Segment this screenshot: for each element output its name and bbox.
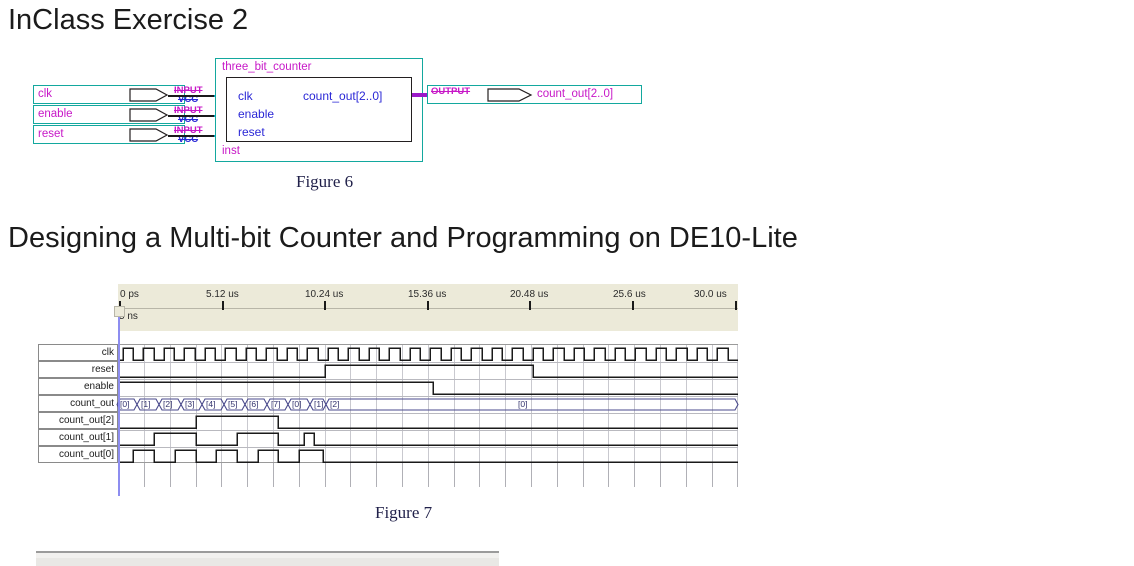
bus-value: [1] [141, 399, 150, 409]
timeline-subheader [118, 309, 738, 331]
time-tick-mark [324, 301, 326, 310]
time-tick-label: 30.0 us [694, 289, 727, 300]
waveform-grid: [0] [1] [2] [3] [4] [5] [6] [7] [0] [1] … [118, 344, 738, 463]
time-tick-label: 10.24 us [305, 289, 343, 300]
time-tick-mark [427, 301, 429, 310]
input-pin-enable-arrow [129, 108, 169, 122]
input-pin-clk-arrow [129, 88, 169, 102]
time-tick-label: 25.6 us [613, 289, 646, 300]
wire-stub-clk [168, 95, 214, 97]
schematic-figure-6: clk INPUT VCC enable INPUT VCC reset INP… [0, 52, 700, 172]
bus-value: [0] [120, 399, 129, 409]
page-title-designing: Designing a Multi-bit Counter and Progra… [8, 222, 798, 255]
wire-stub-enable [168, 115, 214, 117]
block-port-enable: enable [238, 107, 274, 121]
bus-value-stable: [0] [518, 399, 527, 409]
page-title-inclass: InClass Exercise 2 [8, 4, 248, 37]
time-tick-mark [632, 301, 634, 310]
bus-value: [6] [249, 399, 258, 409]
signal-name-enable[interactable]: enable [38, 378, 118, 395]
bus-value: [7] [271, 399, 280, 409]
block-port-reset: reset [238, 125, 265, 139]
waveform-footer-ticks [118, 463, 738, 496]
bus-value: [2] [163, 399, 172, 409]
signal-name-count-out-2[interactable]: count_out[2] [38, 412, 118, 429]
figure-7-caption: Figure 7 [375, 503, 432, 523]
wire-stub-reset [168, 135, 214, 137]
block-port-clk: clk [238, 89, 253, 103]
input-pin-reset-arrow [129, 128, 169, 142]
time-tick-mark [735, 301, 737, 310]
signal-name-clk[interactable]: clk [38, 344, 118, 361]
time-cursor-handle[interactable] [114, 306, 125, 317]
block-name-label: three_bit_counter [222, 61, 312, 73]
time-tick-mark [222, 301, 224, 310]
block-instance-label: inst [222, 145, 240, 157]
figure-6-caption: Figure 6 [296, 172, 353, 192]
bottom-window-toolbar [36, 558, 499, 566]
signal-name-count-out[interactable]: count_out [38, 395, 118, 412]
time-cursor[interactable] [118, 306, 120, 496]
bus-value: [4] [206, 399, 215, 409]
bus-value: [3] [185, 399, 194, 409]
output-pin-arrow [487, 88, 533, 102]
signal-name-reset[interactable]: reset [38, 361, 118, 378]
time-tick-label: 20.48 us [510, 289, 548, 300]
waveform-figure-7: 0 ps 5.12 us 10.24 us 15.36 us 20.48 us … [0, 284, 760, 500]
time-tick-label: 0 ps [120, 289, 139, 300]
bus-value: [2] [330, 399, 339, 409]
input-pin-enable-label: enable [38, 108, 73, 120]
time-tick-label: 15.36 us [408, 289, 446, 300]
time-tick-label: 5.12 us [206, 289, 239, 300]
input-pin-reset-label: reset [38, 128, 64, 140]
bus-value: [0] [292, 399, 301, 409]
output-pin-type: OUTPUT [431, 86, 470, 97]
time-tick-mark [529, 301, 531, 310]
block-port-count-out: count_out[2..0] [303, 89, 382, 103]
bus-value: [1] [314, 399, 323, 409]
signal-name-count-out-0[interactable]: count_out[0] [38, 446, 118, 463]
signal-name-count-out-1[interactable]: count_out[1] [38, 429, 118, 446]
bus-value: [5] [228, 399, 237, 409]
output-pin-label: count_out[2..0] [537, 88, 613, 100]
input-pin-clk-label: clk [38, 88, 52, 100]
